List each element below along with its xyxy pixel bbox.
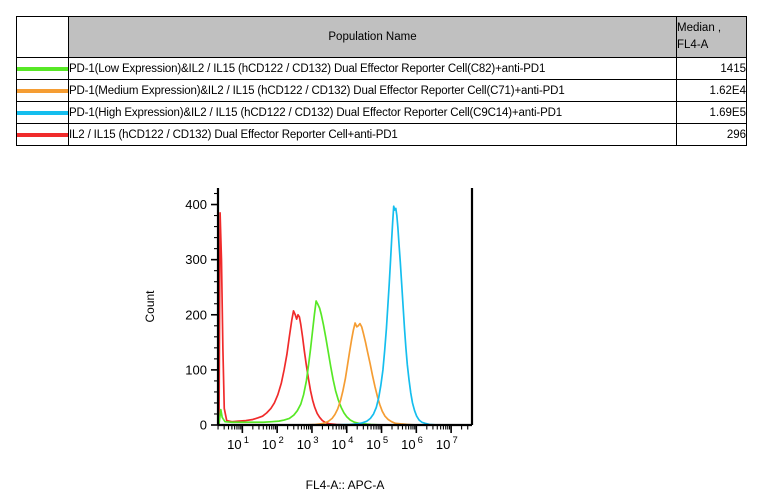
x-tick-label: 104 bbox=[332, 435, 354, 452]
median-value-cell: 1.62E4 bbox=[677, 80, 747, 102]
swatch-line-icon bbox=[17, 111, 68, 115]
x-tick-label: 102 bbox=[262, 435, 284, 452]
population-name-cell: PD-1(High Expression)&IL2 / IL15 (hCD122… bbox=[69, 102, 677, 124]
histogram-plot: 0100200300400101102103104105106107CountF… bbox=[120, 170, 520, 490]
table-row[interactable]: PD-1(Medium Expression)&IL2 / IL15 (hCD1… bbox=[17, 80, 747, 102]
x-tick-label: 101 bbox=[227, 435, 249, 452]
column-header-median-line1: Median , bbox=[677, 20, 746, 37]
svg-text:2: 2 bbox=[279, 435, 284, 446]
curves-group bbox=[219, 206, 465, 425]
svg-text:10: 10 bbox=[227, 437, 241, 452]
axes-group bbox=[218, 188, 472, 425]
svg-text:10: 10 bbox=[262, 437, 276, 452]
swatch-line-icon bbox=[17, 89, 68, 93]
svg-text:10: 10 bbox=[297, 437, 311, 452]
x-tick-label: 106 bbox=[401, 435, 423, 452]
svg-text:6: 6 bbox=[418, 435, 423, 446]
histogram-svg: 0100200300400101102103104105106107CountF… bbox=[120, 170, 520, 490]
population-name-cell: PD-1(Low Expression)&IL2 / IL15 (hCD122 … bbox=[69, 58, 677, 80]
population-color-swatch bbox=[17, 58, 69, 80]
svg-text:10: 10 bbox=[436, 437, 450, 452]
median-value-cell: 1415 bbox=[677, 58, 747, 80]
svg-text:10: 10 bbox=[401, 437, 415, 452]
population-color-swatch bbox=[17, 102, 69, 124]
median-value-cell: 1.69E5 bbox=[677, 102, 747, 124]
svg-text:4: 4 bbox=[348, 435, 353, 446]
y-tick-label: 200 bbox=[185, 307, 207, 322]
svg-text:5: 5 bbox=[383, 435, 388, 446]
table-row[interactable]: PD-1(High Expression)&IL2 / IL15 (hCD122… bbox=[17, 102, 747, 124]
x-tick-label: 107 bbox=[436, 435, 458, 452]
population-name-cell: PD-1(Medium Expression)&IL2 / IL15 (hCD1… bbox=[69, 80, 677, 102]
swatch-line-icon bbox=[17, 133, 68, 137]
axis-labels-group: 0100200300400101102103104105106107CountF… bbox=[143, 197, 458, 490]
column-header-median-line2: FL4-A bbox=[677, 37, 746, 54]
svg-text:3: 3 bbox=[313, 435, 318, 446]
svg-text:7: 7 bbox=[452, 435, 457, 446]
histogram-curve bbox=[219, 301, 465, 425]
y-tick-label: 100 bbox=[185, 362, 207, 377]
svg-text:1: 1 bbox=[244, 435, 249, 446]
table-row[interactable]: PD-1(Low Expression)&IL2 / IL15 (hCD122 … bbox=[17, 58, 747, 80]
y-tick-label: 0 bbox=[200, 418, 207, 433]
population-color-swatch bbox=[17, 124, 69, 146]
median-value-cell: 296 bbox=[677, 124, 747, 146]
x-tick-label: 103 bbox=[297, 435, 319, 452]
swatch-line-icon bbox=[17, 67, 68, 71]
column-header-swatch bbox=[17, 17, 69, 58]
y-tick-label: 400 bbox=[185, 197, 207, 212]
y-tick-label: 300 bbox=[185, 252, 207, 267]
axis-ticks-group bbox=[211, 194, 468, 433]
table-body: PD-1(Low Expression)&IL2 / IL15 (hCD122 … bbox=[17, 58, 747, 146]
population-color-swatch bbox=[17, 80, 69, 102]
x-axis-title: FL4-A:: APC-A bbox=[306, 478, 385, 490]
column-header-population-name: Population Name bbox=[69, 17, 677, 58]
y-axis-title: Count bbox=[143, 290, 157, 323]
table-row[interactable]: IL2 / IL15 (hCD122 / CD132) Dual Effecto… bbox=[17, 124, 747, 146]
table-header-row: Population Name Median , FL4-A bbox=[17, 17, 747, 58]
svg-text:10: 10 bbox=[366, 437, 380, 452]
column-header-median: Median , FL4-A bbox=[677, 17, 747, 58]
population-table: Population Name Median , FL4-A PD-1(Low … bbox=[16, 16, 747, 146]
population-name-cell: IL2 / IL15 (hCD122 / CD132) Dual Effecto… bbox=[69, 124, 677, 146]
x-tick-label: 105 bbox=[366, 435, 388, 452]
svg-text:10: 10 bbox=[332, 437, 346, 452]
